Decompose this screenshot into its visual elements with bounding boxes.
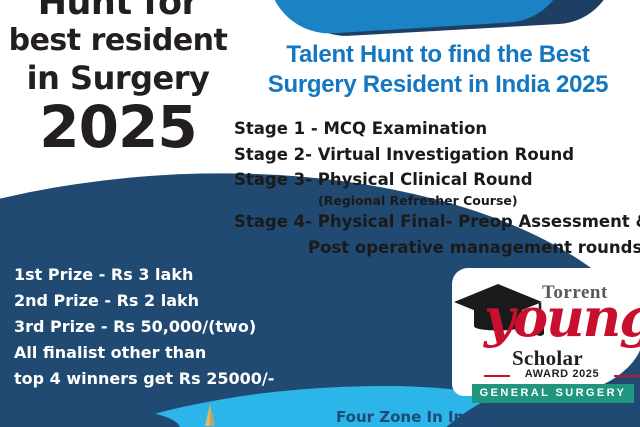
- prize-item-5: top 4 winners get Rs 25000/-: [14, 366, 344, 392]
- prize-item-1: 1st Prize - Rs 3 lakh: [14, 262, 344, 288]
- poster-headline: Hunt for best resident in Surgery 2025: [0, 0, 236, 156]
- logo-young-text: young: [484, 292, 640, 345]
- headline-line-3: in Surgery: [0, 62, 236, 94]
- top-tab-shadow-shape: [283, 0, 619, 39]
- stage-item-2: Stage 2- Virtual Investigation Round: [234, 142, 640, 168]
- logo-award-text: AWARD 2025: [500, 368, 624, 380]
- stage-item-4-continuation: Post operative management rounds: [234, 235, 640, 261]
- stage-item-1: Stage 1 - MCQ Examination: [234, 116, 640, 142]
- navy-bottom-left-shape: [0, 404, 180, 427]
- headline-year: 2025: [0, 98, 236, 156]
- page-title-line-1: Talent Hunt to find the Best: [236, 40, 640, 70]
- four-zone-label: Four Zone In India: [336, 408, 490, 426]
- top-tab-shape: [265, 0, 571, 37]
- prize-list: 1st Prize - Rs 3 lakh 2nd Prize - Rs 2 l…: [14, 262, 344, 392]
- headline-line-2: best resident: [0, 26, 236, 56]
- trophy-icon: [198, 404, 222, 427]
- poster-canvas: Hunt for best resident in Surgery 2025 T…: [0, 0, 640, 427]
- stage-item-3-subtitle: (Regional Refresher Course): [234, 193, 640, 209]
- prize-item-3: 3rd Prize - Rs 50,000/(two): [14, 314, 344, 340]
- stage-item-3: Stage 3- Physical Clinical Round: [234, 167, 640, 193]
- prize-item-2: 2nd Prize - Rs 2 lakh: [14, 288, 344, 314]
- stage-list: Stage 1 - MCQ Examination Stage 2- Virtu…: [234, 116, 640, 260]
- stage-item-4: Stage 4- Physical Final- Preop Assessmen…: [234, 209, 640, 235]
- page-title: Talent Hunt to find the Best Surgery Res…: [236, 40, 640, 100]
- page-title-line-2: Surgery Resident in India 2025: [236, 70, 640, 100]
- prize-item-4: All finalist other than: [14, 340, 344, 366]
- logo-general-surgery-banner: GENERAL SURGERY: [472, 384, 634, 403]
- torrent-young-scholar-logo: Torrent young Scholar AWARD 2025 GENERAL…: [462, 276, 638, 394]
- headline-line-1: Hunt for: [0, 0, 236, 21]
